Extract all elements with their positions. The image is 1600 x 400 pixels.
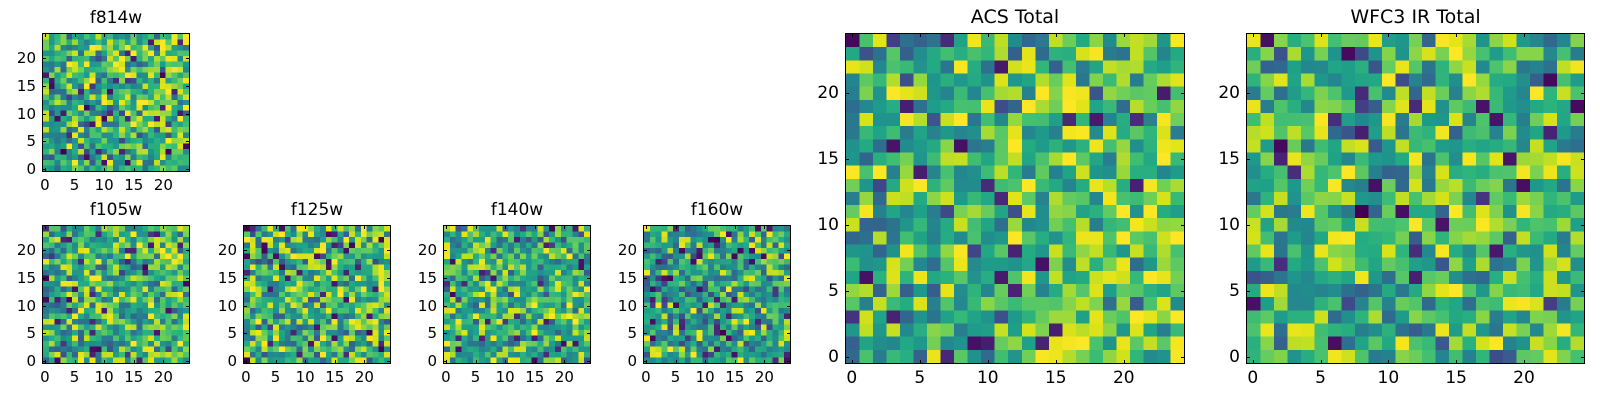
y-tick-mark-right [1581, 225, 1585, 226]
y-tick-label: 15 [1186, 149, 1240, 169]
y-tick-label: 0 [1186, 347, 1240, 367]
panel-title: WFC3 IR Total [1246, 6, 1585, 28]
x-tick-mark-top [1253, 33, 1254, 37]
x-tick-mark [1456, 360, 1457, 364]
y-tick-label: 10 [1186, 215, 1240, 235]
x-tick-label: 15 [1445, 368, 1467, 388]
plot-area [1246, 33, 1585, 364]
y-tick-mark [1246, 291, 1250, 292]
y-tick-mark [1246, 357, 1250, 358]
heatmap-panel: WFC3 IR Total0510152005101520 [0, 0, 1600, 400]
y-tick-mark [1246, 159, 1250, 160]
y-tick-mark [1246, 93, 1250, 94]
x-tick-mark-top [1321, 33, 1322, 37]
y-tick-mark [1246, 225, 1250, 226]
x-tick-mark [1253, 360, 1254, 364]
x-tick-mark-top [1388, 33, 1389, 37]
figure-canvas: f814w0510152005101520f105w05101520051015… [0, 0, 1600, 400]
y-tick-mark-right [1581, 357, 1585, 358]
x-tick-label: 0 [1247, 368, 1258, 388]
x-tick-mark-top [1524, 33, 1525, 37]
x-tick-mark [1321, 360, 1322, 364]
x-tick-mark [1388, 360, 1389, 364]
heatmap-image [1247, 34, 1584, 363]
x-tick-label: 20 [1513, 368, 1535, 388]
y-tick-mark-right [1581, 93, 1585, 94]
x-tick-mark [1524, 360, 1525, 364]
y-tick-mark-right [1581, 159, 1585, 160]
y-tick-mark-right [1581, 291, 1585, 292]
y-tick-label: 20 [1186, 83, 1240, 103]
x-tick-label: 10 [1378, 368, 1400, 388]
x-tick-label: 5 [1315, 368, 1326, 388]
y-tick-label: 5 [1186, 281, 1240, 301]
x-tick-mark-top [1456, 33, 1457, 37]
